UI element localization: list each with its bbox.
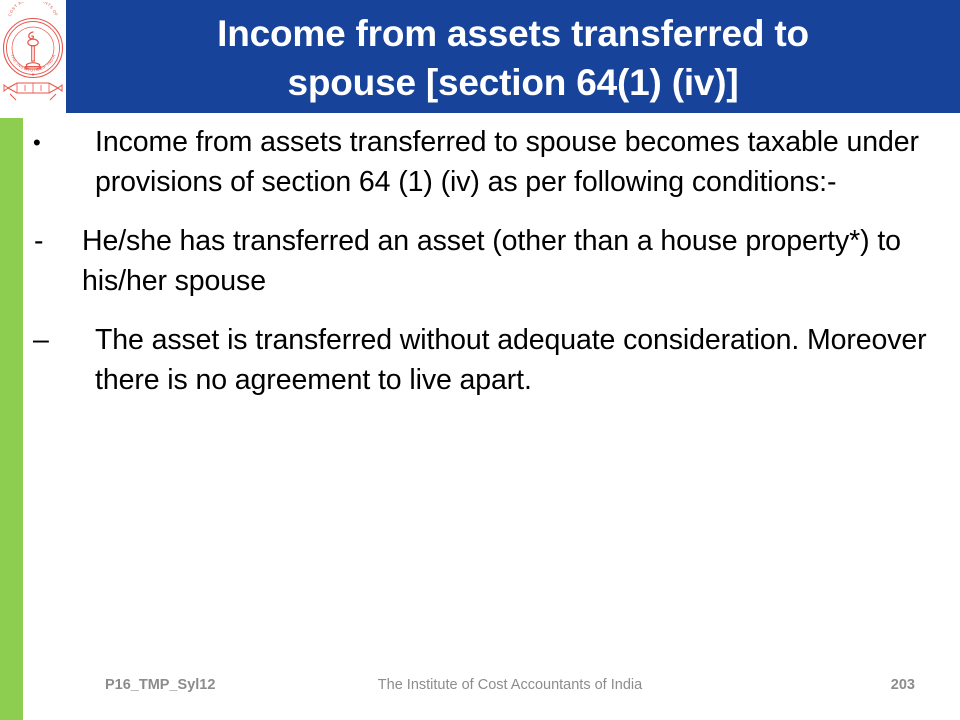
bullet-marker-hyphen: - bbox=[24, 221, 90, 261]
bullet-text: He/she has transferred an asset (other t… bbox=[24, 221, 960, 301]
bullet-marker-dash: – bbox=[24, 320, 89, 360]
page-title-line-2: spouse [section 64(1) (iv)] bbox=[287, 58, 738, 107]
page-title-line-1: Income from assets transferred to bbox=[217, 9, 809, 58]
footer-organization: The Institute of Cost Accountants of Ind… bbox=[105, 672, 915, 698]
page-title: Income from assets transferred to spouse… bbox=[66, 2, 960, 113]
bullet-item: – The asset is transferred without adequ… bbox=[24, 320, 960, 400]
bullet-text: Income from assets transferred to spouse… bbox=[24, 122, 960, 202]
bullet-item: - He/she has transferred an asset (other… bbox=[24, 221, 960, 301]
institute-seal-icon: COST ACCOUNTANTS OF THE INSTITUTE OF IND… bbox=[2, 2, 64, 110]
bullet-item: • Income from assets transferred to spou… bbox=[24, 122, 960, 202]
presentation-slide: COST ACCOUNTANTS OF THE INSTITUTE OF IND… bbox=[0, 0, 960, 720]
slide-body: • Income from assets transferred to spou… bbox=[24, 122, 960, 652]
green-accent-bar bbox=[0, 118, 23, 720]
institute-logo: COST ACCOUNTANTS OF THE INSTITUTE OF IND… bbox=[2, 2, 64, 110]
footer-page-number: 203 bbox=[891, 672, 915, 698]
bullet-text: The asset is transferred without adequat… bbox=[24, 320, 960, 400]
svg-text:COST ACCOUNTANTS OF: COST ACCOUNTANTS OF bbox=[7, 2, 59, 17]
slide-footer: P16_TMP_Syl12 The Institute of Cost Acco… bbox=[105, 672, 915, 698]
bullet-marker-dot: • bbox=[24, 122, 89, 164]
